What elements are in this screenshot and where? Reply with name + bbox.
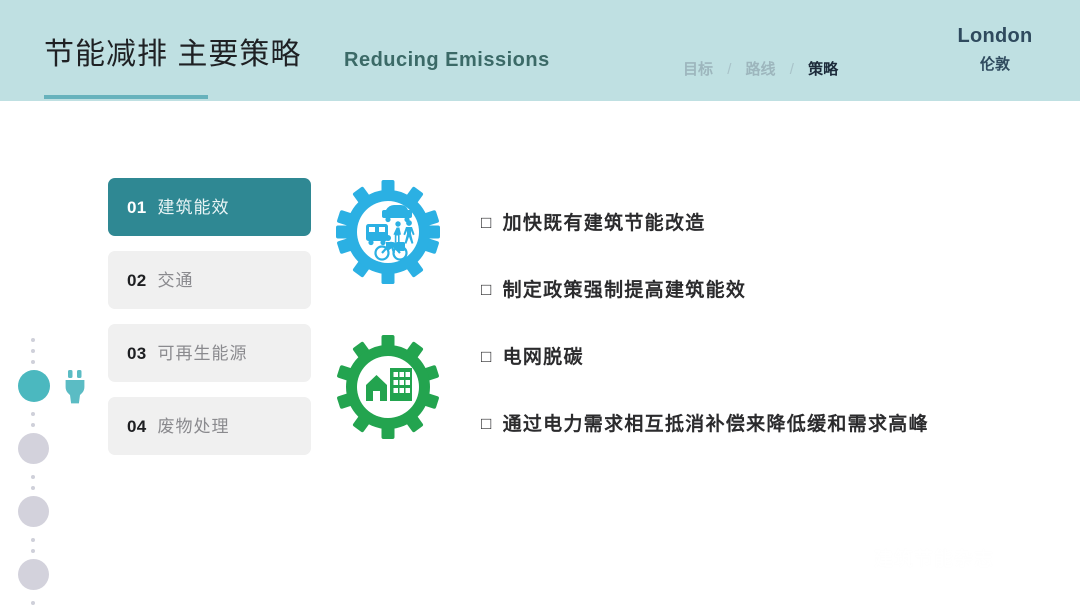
rail-node-active[interactable] <box>18 370 50 402</box>
breadcrumb-separator: / <box>780 62 804 77</box>
breadcrumb-item-strategy[interactable]: 策略 <box>808 62 838 77</box>
rail-dot <box>31 412 35 416</box>
rail-node[interactable] <box>18 433 49 464</box>
menu-item-label: 建筑能效 <box>158 199 230 216</box>
checkbox-bullet-icon: □ <box>481 415 493 432</box>
menu-item-transport[interactable]: 02 交通 <box>108 251 311 309</box>
bullet-item: □通过电力需求相互抵消补偿来降低缓和需求高峰 <box>481 415 929 434</box>
checkbox-bullet-icon: □ <box>481 214 493 231</box>
gear-transport-icon <box>336 180 440 284</box>
rail-dot <box>31 486 35 490</box>
bullet-text: 制定政策强制提高建筑能效 <box>503 280 747 301</box>
page-title-cn: 节能减排 主要策略 <box>44 40 301 70</box>
menu-item-number: 01 <box>127 199 147 216</box>
breadcrumb-separator: / <box>717 62 741 77</box>
menu-item-label: 废物处理 <box>158 418 230 435</box>
rail-dot <box>31 475 35 479</box>
breadcrumb-item-goals[interactable]: 目标 <box>683 62 713 77</box>
city-name-cn: 伦敦 <box>930 56 1060 74</box>
rail-dot <box>31 360 35 364</box>
strategy-menu: 01 建筑能效 02 交通 03 可再生能源 04 废物处理 <box>108 178 311 470</box>
bullet-text: 加快既有建筑节能改造 <box>503 213 706 234</box>
menu-item-building-efficiency[interactable]: 01 建筑能效 <box>108 178 311 236</box>
rail-dot <box>31 601 35 605</box>
rail-dot <box>31 549 35 553</box>
watermark: 建筑节能杂志 <box>838 545 994 573</box>
title-underline <box>44 95 208 99</box>
rail-node[interactable] <box>18 496 49 527</box>
page-title-en: Reducing Emissions <box>344 50 550 70</box>
bullet-text: 通过电力需求相互抵消补偿来降低缓和需求高峰 <box>503 414 929 435</box>
city-name-en: London <box>930 24 1060 48</box>
checkbox-bullet-icon: □ <box>481 281 493 298</box>
progress-rail <box>0 320 96 607</box>
watermark-text: 建筑节能杂志 <box>874 550 994 569</box>
slide-header: 节能减排 主要策略 Reducing Emissions 目标 / 路线 / 策… <box>0 0 1080 101</box>
menu-item-renewable-energy[interactable]: 03 可再生能源 <box>108 324 311 382</box>
bullet-text: 电网脱碳 <box>503 347 584 368</box>
menu-item-label: 交通 <box>158 272 194 289</box>
breadcrumb: 目标 / 路线 / 策略 <box>683 62 838 77</box>
bullet-item: □加快既有建筑节能改造 <box>481 214 706 233</box>
gear-building-icon <box>336 335 440 439</box>
menu-item-label: 可再生能源 <box>158 345 248 362</box>
rail-dot <box>31 423 35 427</box>
menu-item-number: 03 <box>127 345 147 362</box>
checkbox-bullet-icon: □ <box>481 348 493 365</box>
power-plug-icon <box>62 370 88 409</box>
rail-node[interactable] <box>18 559 49 590</box>
bullet-item: □电网脱碳 <box>481 348 584 367</box>
breadcrumb-item-route[interactable]: 路线 <box>746 62 776 77</box>
wechat-icon <box>838 545 865 573</box>
rail-dot <box>31 349 35 353</box>
menu-item-waste-treatment[interactable]: 04 废物处理 <box>108 397 311 455</box>
rail-dot <box>31 338 35 342</box>
menu-item-number: 04 <box>127 418 147 435</box>
rail-dot <box>31 538 35 542</box>
bullet-item: □制定政策强制提高建筑能效 <box>481 281 746 300</box>
menu-item-number: 02 <box>127 272 147 289</box>
city-label: London 伦敦 <box>930 24 1060 74</box>
